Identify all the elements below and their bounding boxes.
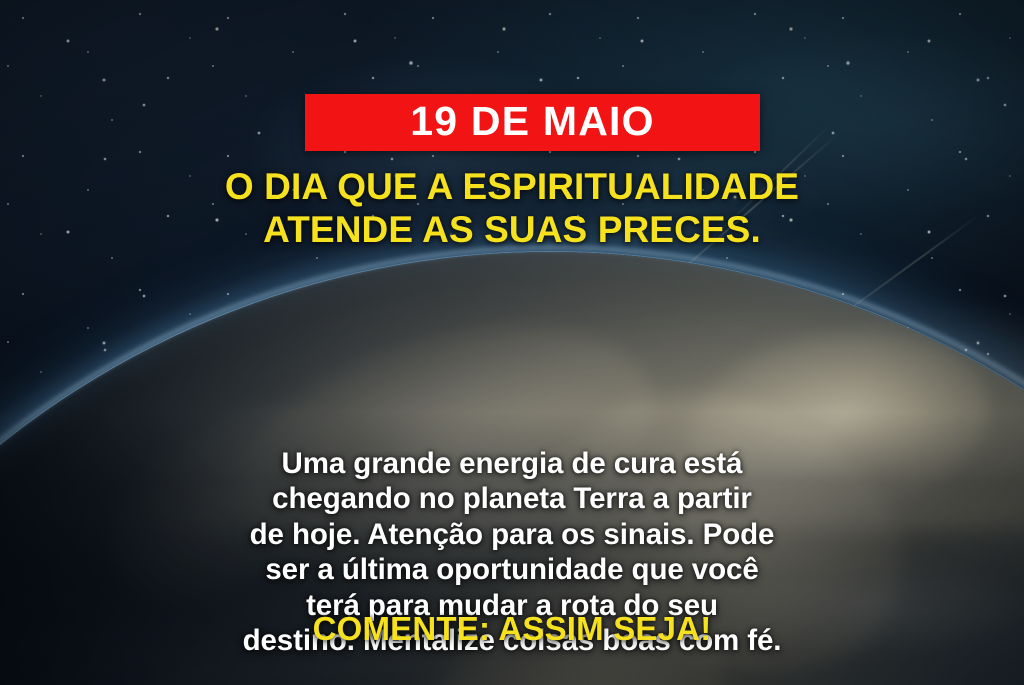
body-line-4: ser a última oportunidade que você (0, 552, 1024, 587)
date-banner-label: 19 DE MAIO (410, 101, 654, 142)
date-banner: 19 DE MAIO (305, 94, 760, 151)
headline-line-1: O DIA QUE A ESPIRITUALIDADE (0, 166, 1024, 209)
poster-image: 19 DE MAIO O DIA QUE A ESPIRITUALIDADE A… (0, 0, 1024, 685)
call-to-action: COMENTE: ASSIM SEJA! (0, 612, 1024, 645)
body-line-3: de hoje. Atenção para os sinais. Pode (0, 517, 1024, 552)
headline: O DIA QUE A ESPIRITUALIDADE ATENDE AS SU… (0, 166, 1024, 252)
body-line-1: Uma grande energia de cura está (0, 446, 1024, 481)
body-line-2: chegando no planeta Terra a partir (0, 481, 1024, 516)
text-layer: 19 DE MAIO O DIA QUE A ESPIRITUALIDADE A… (0, 0, 1024, 685)
headline-line-2: ATENDE AS SUAS PRECES. (0, 209, 1024, 252)
